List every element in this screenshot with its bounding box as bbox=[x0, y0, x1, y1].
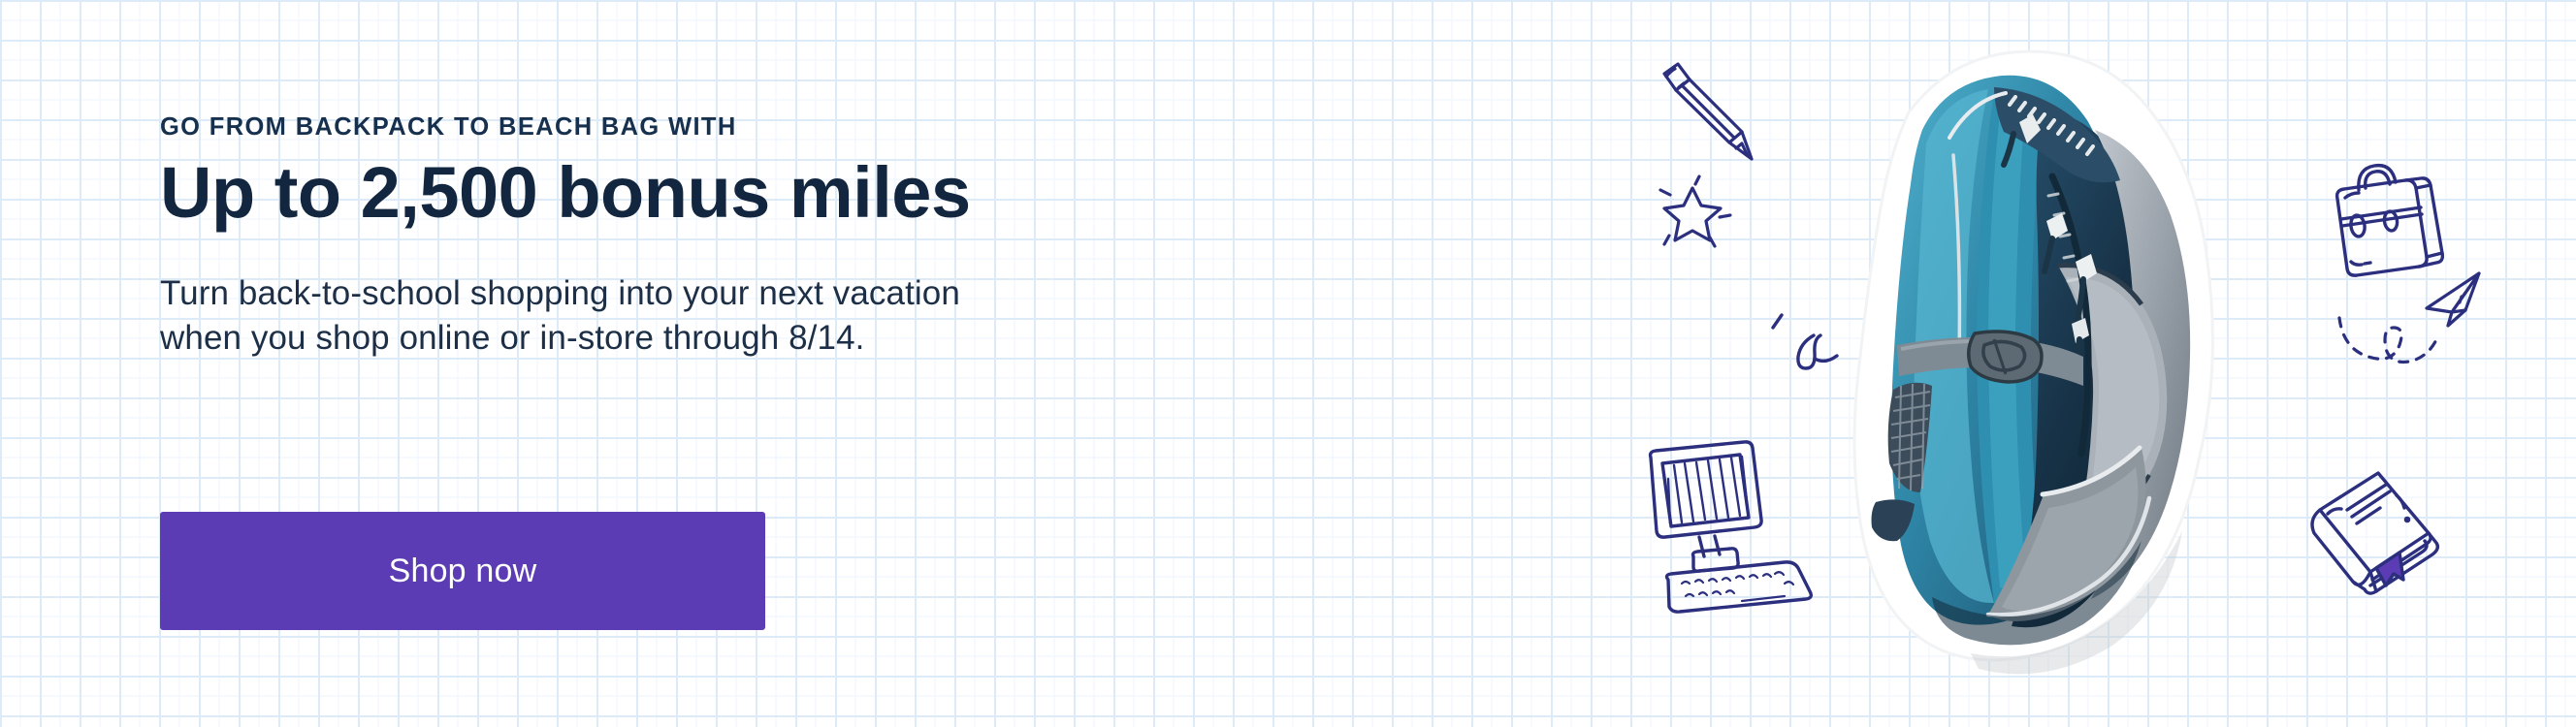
subcopy-line-2: when you shop online or in-store through… bbox=[160, 316, 1421, 362]
shop-now-button[interactable]: Shop now bbox=[160, 512, 765, 630]
subcopy-text: Turn back-to-school shopping into your n… bbox=[160, 271, 1421, 362]
subcopy-line-1: Turn back-to-school shopping into your n… bbox=[160, 271, 1421, 317]
eyebrow-text: GO FROM BACKPACK TO BEACH BAG WITH bbox=[160, 112, 1421, 142]
page-title: Up to 2,500 bonus miles bbox=[160, 156, 1421, 231]
promo-banner: GO FROM BACKPACK TO BEACH BAG WITH Up to… bbox=[0, 0, 2576, 727]
art-area bbox=[1610, 0, 2576, 727]
backpack-image bbox=[1804, 37, 2231, 677]
copy-block: GO FROM BACKPACK TO BEACH BAG WITH Up to… bbox=[160, 112, 1421, 362]
